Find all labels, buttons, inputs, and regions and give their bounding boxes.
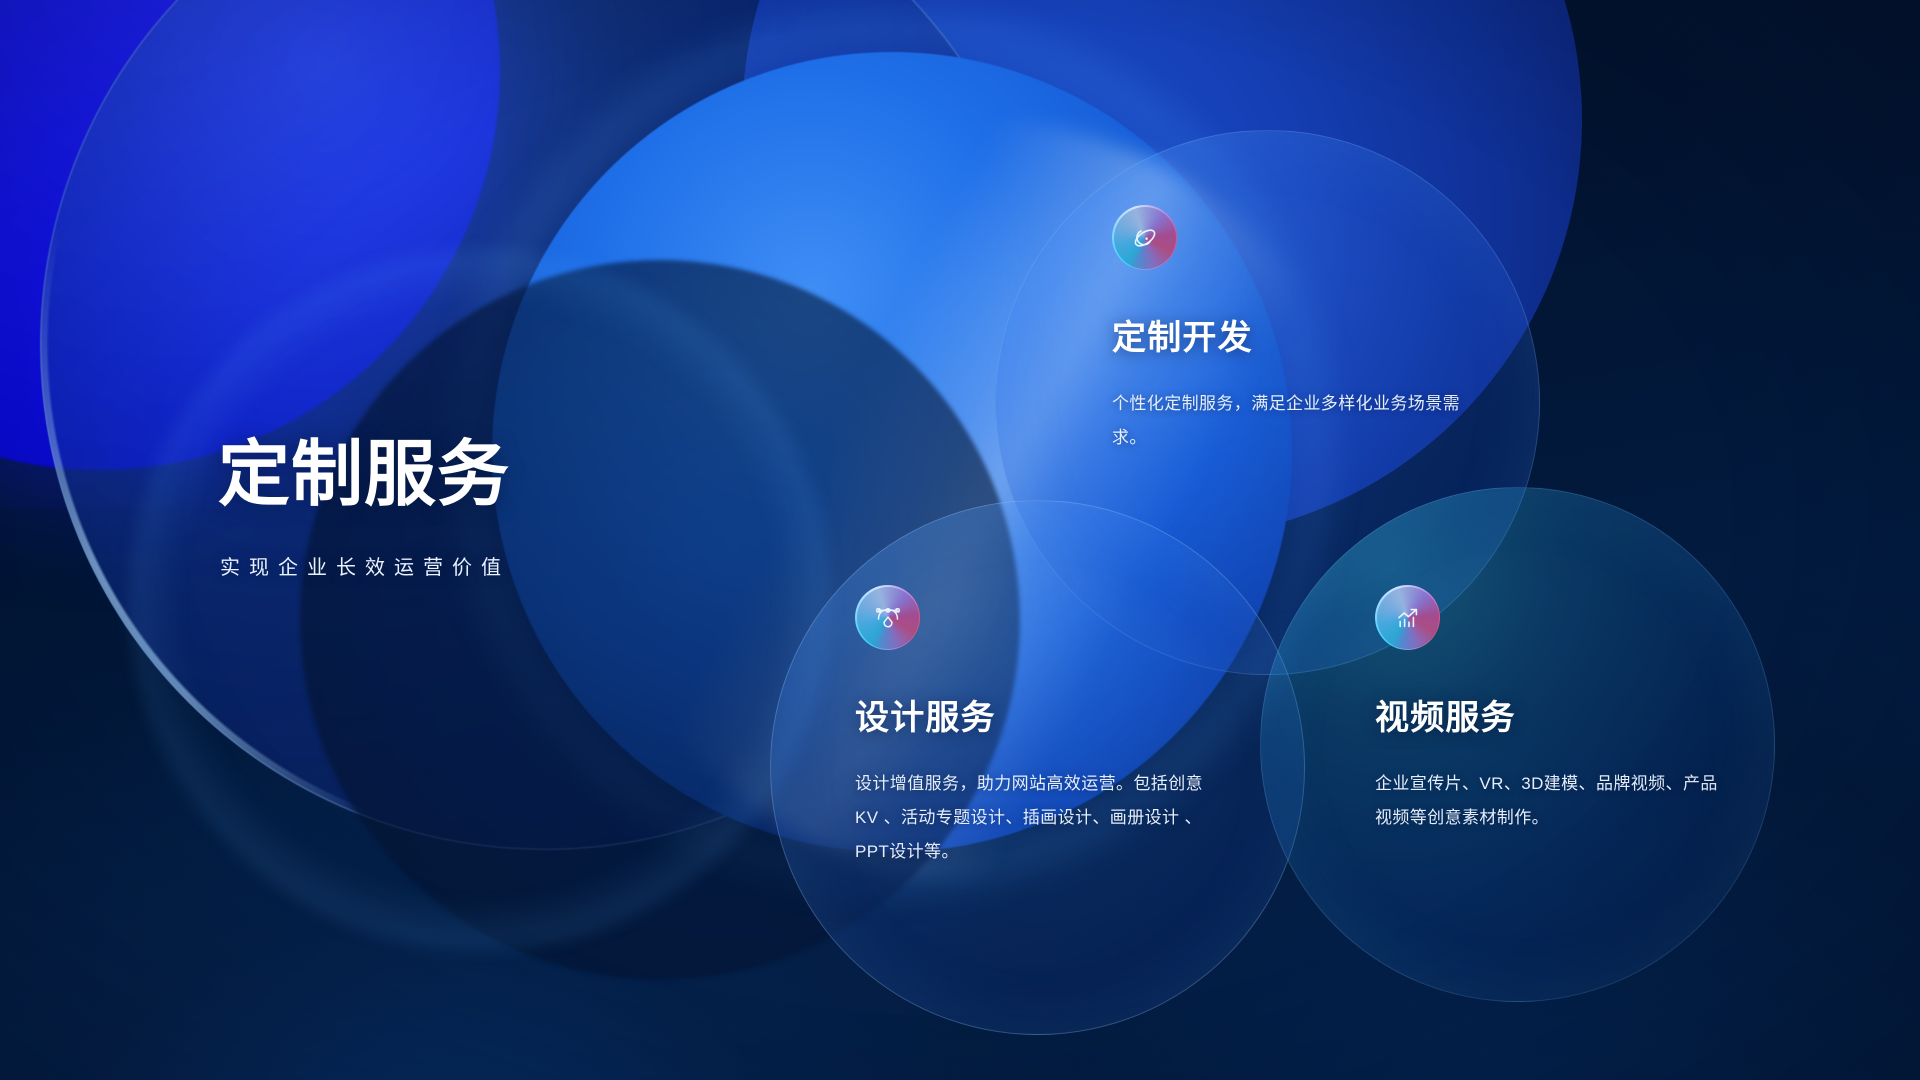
card-design-service[interactable]: 设计服务 设计增值服务，助力网站高效运营。包括创意KV 、活动专题设计、插画设计… bbox=[855, 585, 1225, 869]
card-title: 定制开发 bbox=[1112, 310, 1462, 359]
page-subtitle: 实现企业长效运营价值 bbox=[220, 551, 838, 580]
hero-text-block: 定制服务 实现企业长效运营价值 bbox=[218, 437, 838, 580]
pen-tool-icon bbox=[855, 585, 920, 650]
page-title: 定制服务 bbox=[218, 437, 838, 513]
card-custom-development[interactable]: 定制开发 个性化定制服务，满足企业多样化业务场景需求。 bbox=[1112, 205, 1462, 455]
background-faint-left-halo bbox=[130, 250, 830, 950]
atom-orbit-icon bbox=[1112, 205, 1177, 270]
card-title: 视频服务 bbox=[1375, 690, 1730, 739]
card-video-service[interactable]: 视频服务 企业宣传片、VR、3D建模、品牌视频、产品视频等创意素材制作。 bbox=[1375, 585, 1730, 835]
card-description: 企业宣传片、VR、3D建模、品牌视频、产品视频等创意素材制作。 bbox=[1375, 767, 1730, 835]
background-vivid-blue-circle bbox=[0, 0, 500, 470]
card-description: 设计增值服务，助力网站高效运营。包括创意KV 、活动专题设计、插画设计、画册设计… bbox=[855, 767, 1225, 869]
card-title: 设计服务 bbox=[855, 690, 1225, 739]
background-cyan-halo bbox=[0, 0, 1060, 350]
slide-canvas: 定制服务 实现企业长效运营价值 定制开发 个性化定制服务，满足企业多样化业务场景… bbox=[0, 0, 1920, 1080]
growth-chart-icon bbox=[1375, 585, 1440, 650]
card-description: 个性化定制服务，满足企业多样化业务场景需求。 bbox=[1112, 387, 1462, 455]
